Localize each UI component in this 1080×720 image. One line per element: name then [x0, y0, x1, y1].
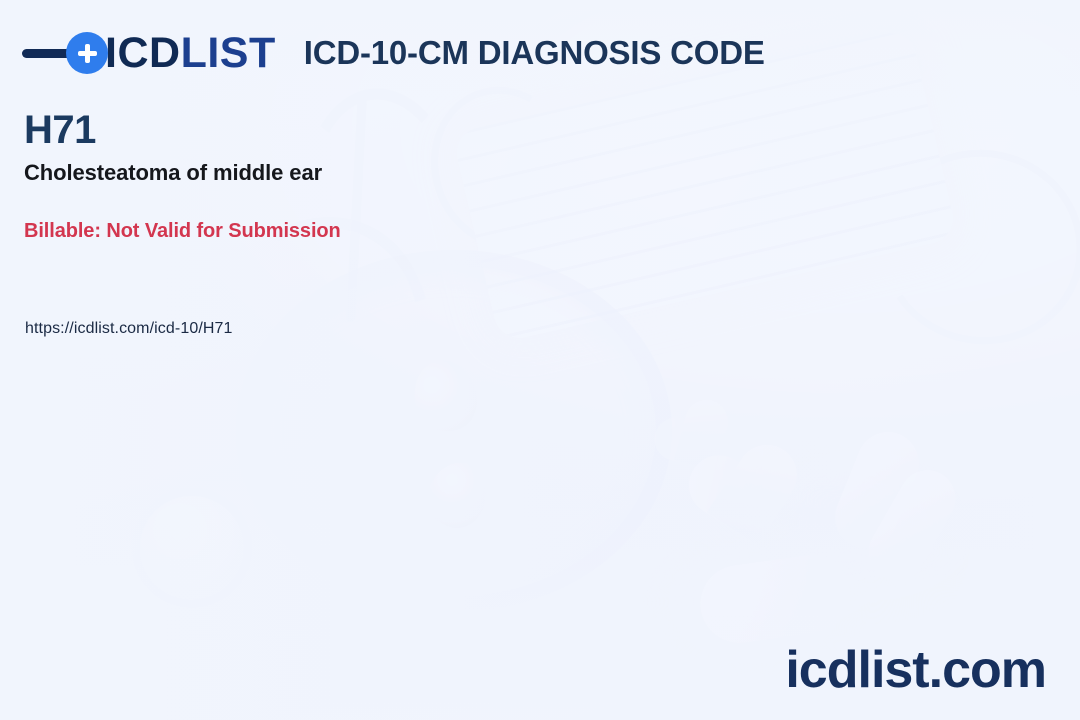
site-watermark: icdlist.com	[785, 644, 1046, 696]
plus-vertical-bar	[85, 44, 90, 63]
logo-wordmark: ICDLIST	[105, 32, 276, 75]
icd-code-card: ICDLIST ICD-10-CM DIAGNOSIS CODE H71 Cho…	[0, 0, 1080, 720]
diagnosis-code-block: H71 Cholesteatoma of middle ear Billable…	[24, 108, 644, 243]
page-title: ICD-10-CM DIAGNOSIS CODE	[304, 34, 765, 72]
logo-word-list: LIST	[181, 29, 276, 77]
logo-word-icd: ICD	[105, 29, 181, 77]
header: ICDLIST ICD-10-CM DIAGNOSIS CODE	[22, 22, 765, 84]
diagnosis-code-description: Cholesteatoma of middle ear	[24, 160, 644, 186]
icdlist-logo[interactable]: ICDLIST	[22, 22, 276, 84]
code-url-link[interactable]: https://icdlist.com/icd-10/H71	[25, 320, 233, 338]
billable-status-badge: Billable: Not Valid for Submission	[24, 220, 644, 243]
plus-circle-icon	[66, 32, 108, 74]
diagnosis-code-value: H71	[24, 108, 644, 152]
card-content: ICDLIST ICD-10-CM DIAGNOSIS CODE H71 Cho…	[0, 0, 1080, 720]
